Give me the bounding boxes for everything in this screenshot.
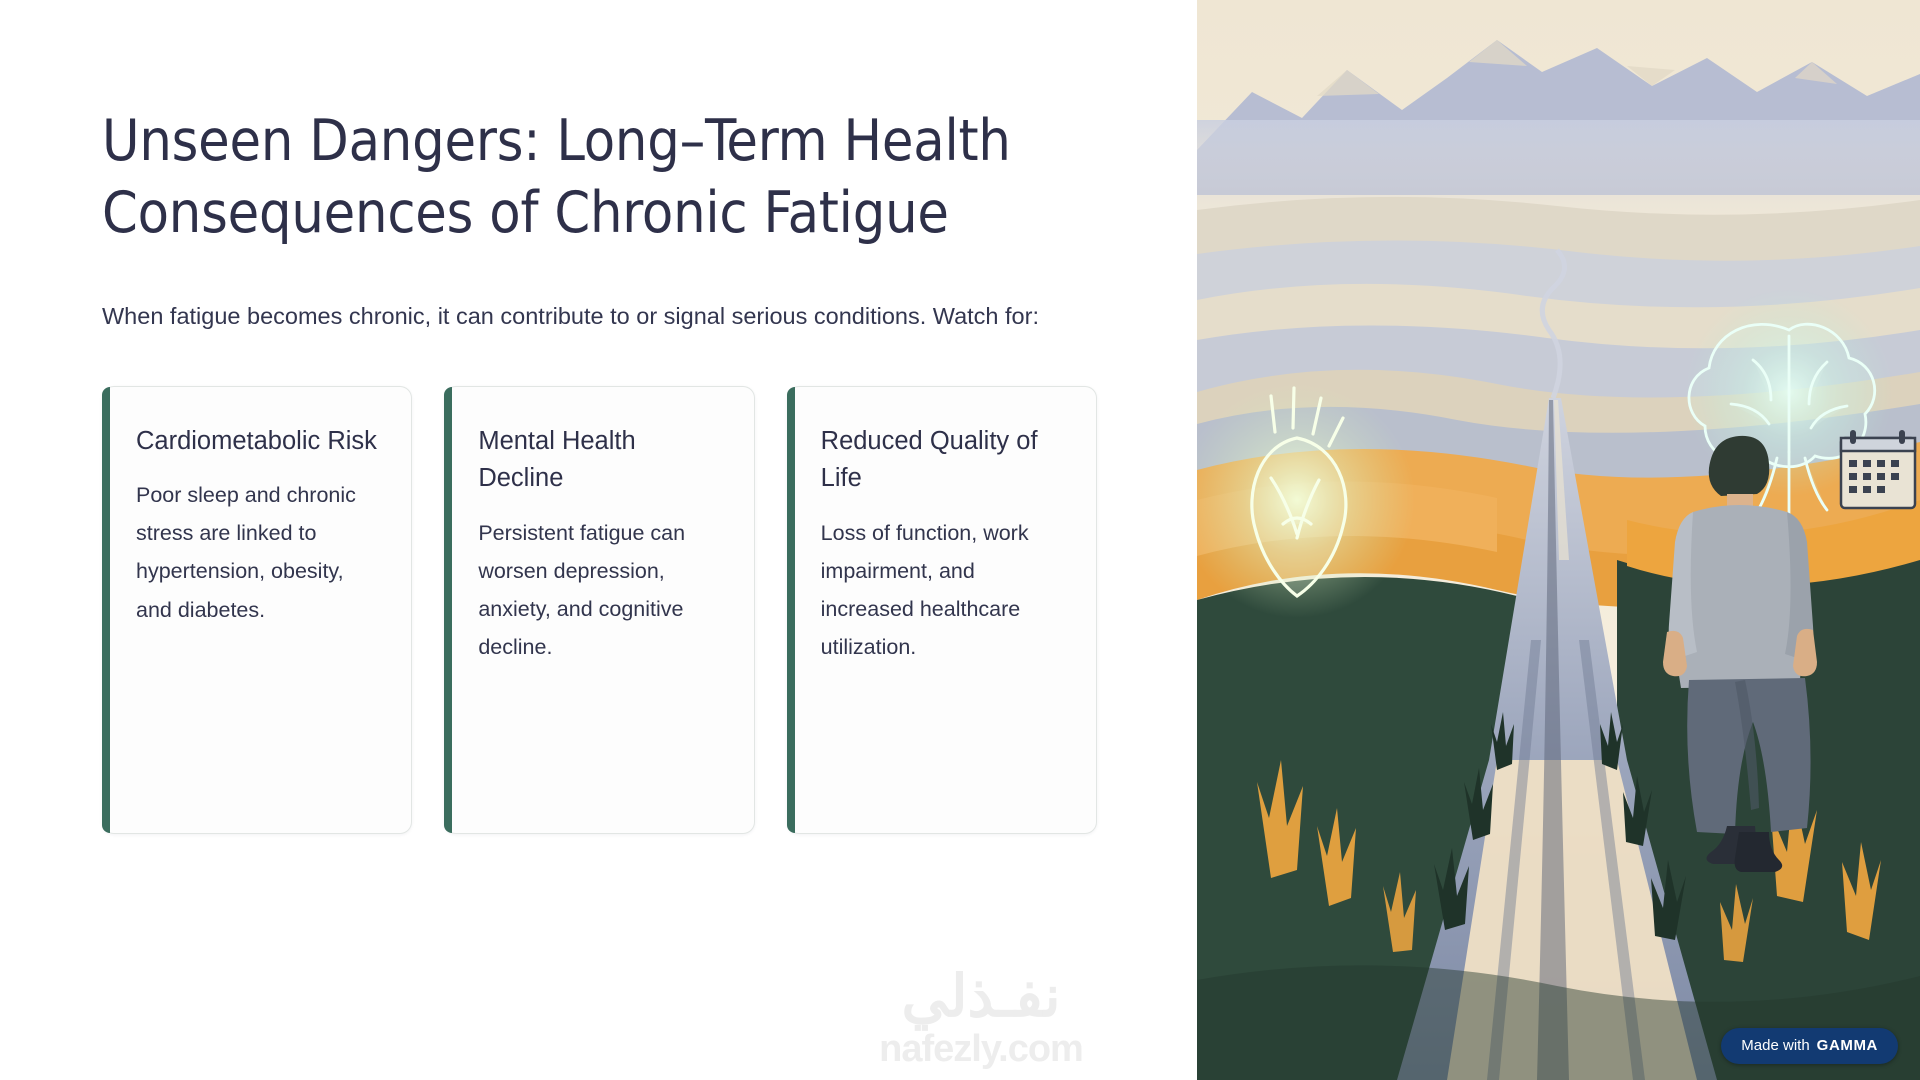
made-with-gamma-badge[interactable]: Made with GAMMA xyxy=(1721,1028,1898,1064)
illustration-panel: Made with GAMMA xyxy=(1197,0,1920,1080)
card-title: Mental Health Decline xyxy=(478,423,723,497)
badge-prefix-label: Made with xyxy=(1741,1037,1809,1054)
watermark-arabic-text: نفـذلي xyxy=(846,968,1116,1026)
content-panel: Unseen Dangers: Long–Term Health Consequ… xyxy=(0,0,1197,1080)
badge-brand-label: GAMMA xyxy=(1817,1037,1878,1054)
card-body: Poor sleep and chronic stress are linked… xyxy=(136,476,381,628)
watermark-latin-text: nafezly.com xyxy=(846,1030,1116,1068)
page-title: Unseen Dangers: Long–Term Health Consequ… xyxy=(102,105,1032,250)
watermark: نفـذلي nafezly.com xyxy=(846,968,1116,1068)
card-reduced-quality-of-life[interactable]: Reduced Quality of Life Loss of function… xyxy=(787,386,1097,834)
road-landscape-illustration xyxy=(1197,0,1920,1080)
card-title: Reduced Quality of Life xyxy=(821,423,1066,497)
card-title: Cardiometabolic Risk xyxy=(136,423,381,460)
card-list: Cardiometabolic Risk Poor sleep and chro… xyxy=(102,386,1097,834)
card-body: Persistent fatigue can worsen depression… xyxy=(478,514,723,666)
card-cardiometabolic-risk[interactable]: Cardiometabolic Risk Poor sleep and chro… xyxy=(102,386,412,834)
card-body: Loss of function, work impairment, and i… xyxy=(821,514,1066,666)
page-subtitle: When fatigue becomes chronic, it can con… xyxy=(102,298,1062,334)
calendar-icon xyxy=(1841,430,1915,508)
slide: Unseen Dangers: Long–Term Health Consequ… xyxy=(0,0,1920,1080)
card-mental-health-decline[interactable]: Mental Health Decline Persistent fatigue… xyxy=(444,386,754,834)
